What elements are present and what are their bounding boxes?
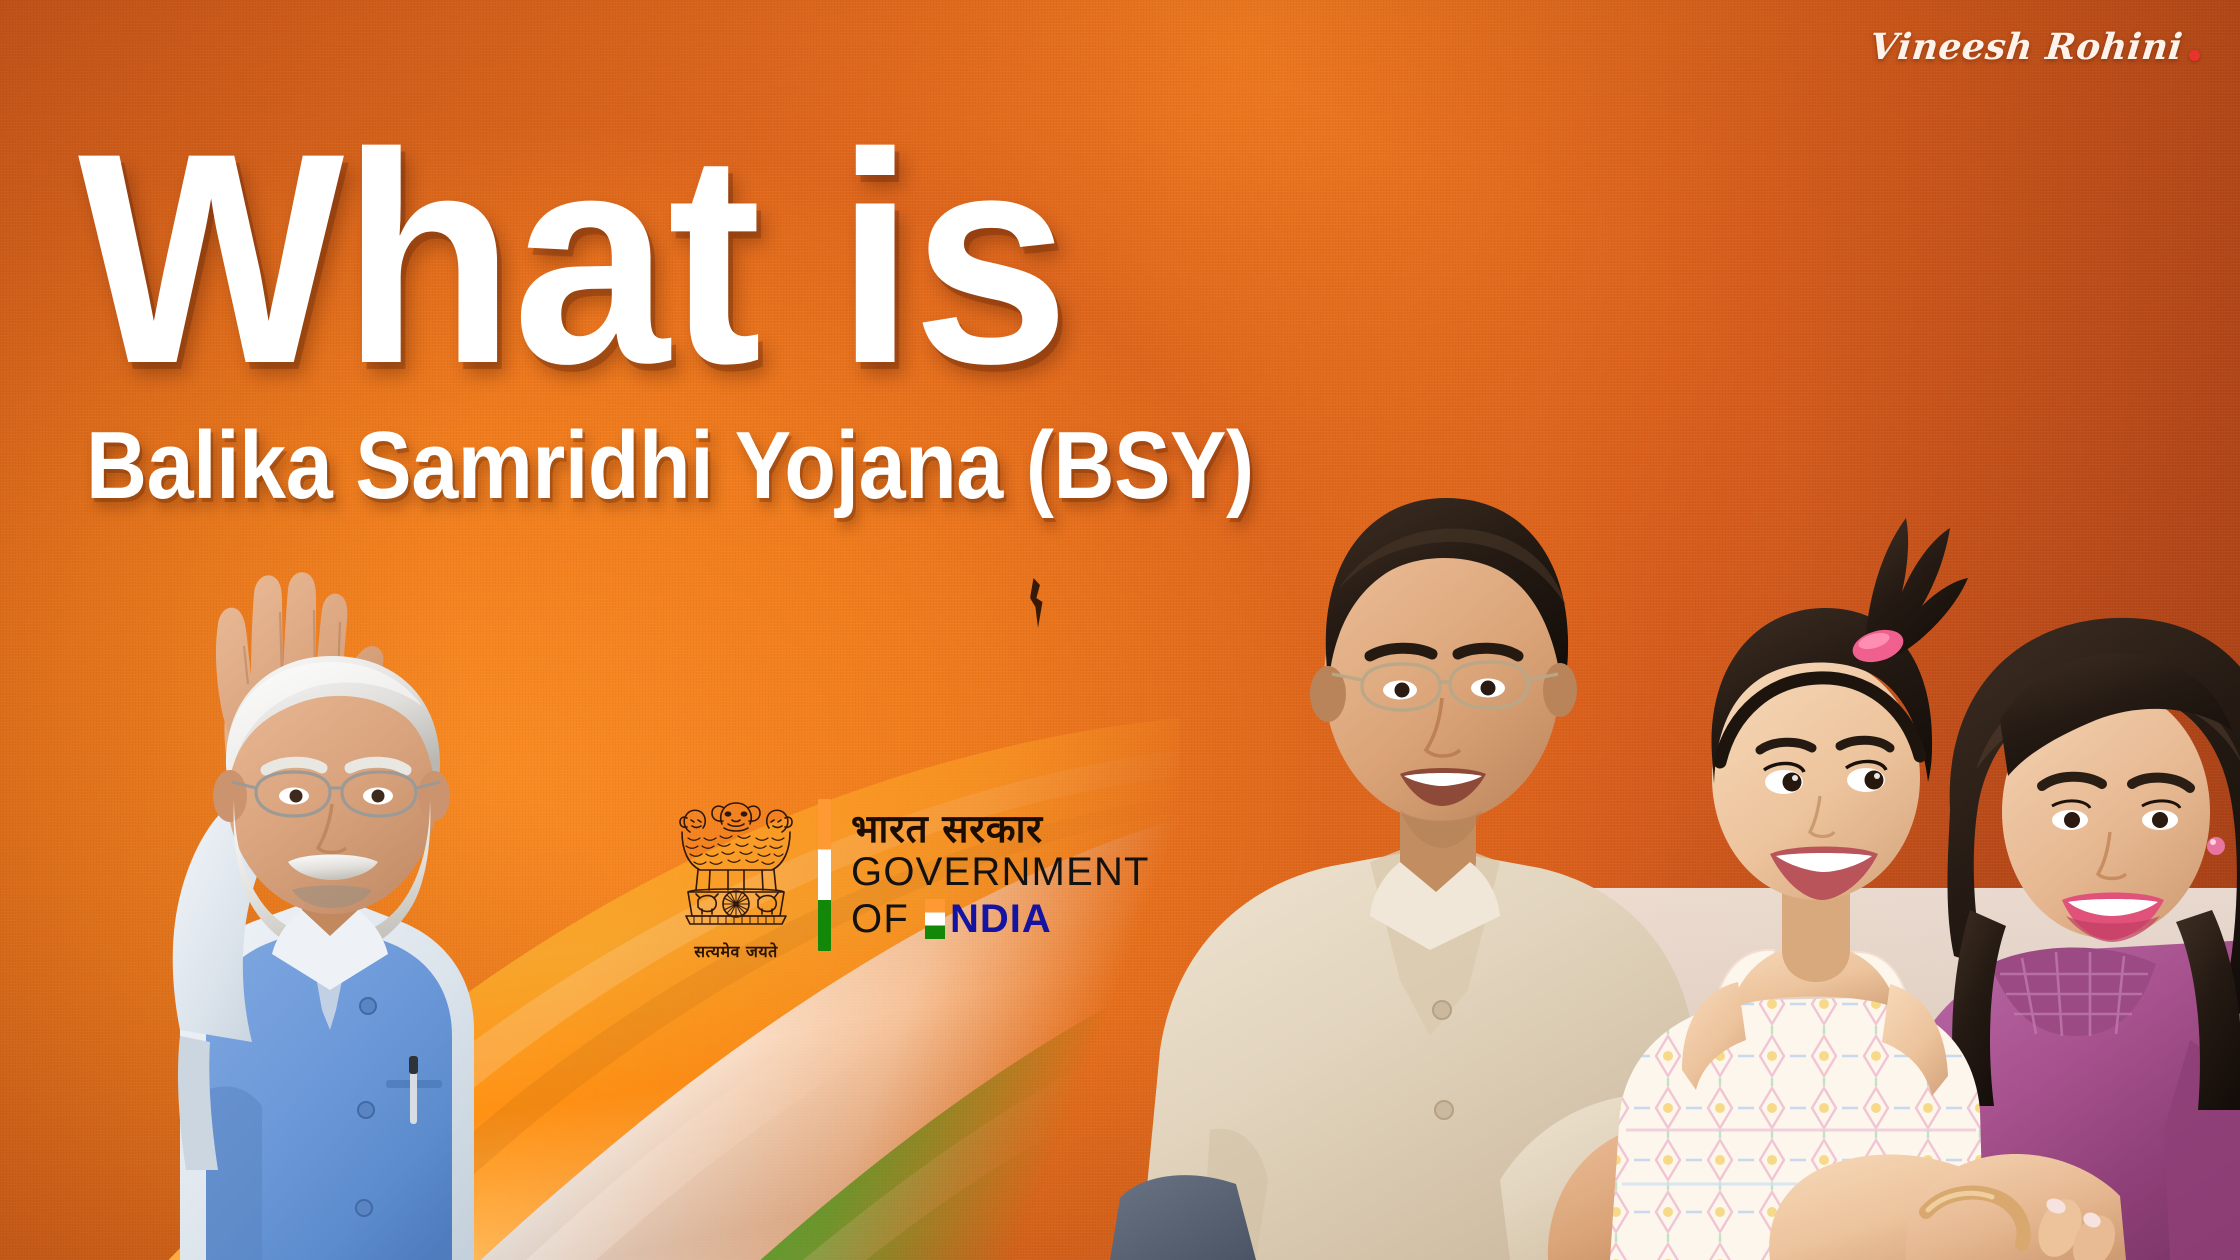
page-title: What is — [78, 120, 1333, 396]
tricolor-i-icon — [925, 899, 945, 939]
page-subtitle: Balika Samridhi Yojana (BSY) — [86, 418, 1254, 514]
headline-block: What is Balika Samridhi Yojana (BSY) — [78, 120, 1413, 514]
india-label: NDIA — [925, 897, 1052, 942]
emblem-icon — [674, 788, 798, 938]
government-hindi-label: भारत सरकार — [851, 809, 1150, 850]
of-label: OF — [851, 897, 909, 942]
thumbnail-canvas: What is Balika Samridhi Yojana (BSY) — [0, 0, 2240, 1260]
government-of-india-logo: सत्यमेव जयते भारत सरकार GOVERNMENT OF ND… — [672, 788, 1150, 962]
government-logo-text: भारत सरकार GOVERNMENT OF NDIA — [851, 809, 1150, 942]
india-text: NDIA — [950, 897, 1052, 942]
channel-watermark: Vineesh Rohini — [1870, 26, 2200, 68]
tricolor-divider-bar — [818, 799, 831, 951]
government-english-label: GOVERNMENT — [851, 850, 1150, 895]
watermark-dot-icon — [2189, 50, 2200, 61]
ashoka-lion-capital-emblem: सत्यमेव जयते — [672, 788, 800, 962]
government-of-india-line: OF NDIA — [851, 897, 1150, 942]
watermark-text: Vineesh Rohini — [1868, 26, 2185, 68]
emblem-motto: सत्यमेव जयते — [694, 940, 778, 962]
prime-minister-waving — [30, 470, 590, 1260]
